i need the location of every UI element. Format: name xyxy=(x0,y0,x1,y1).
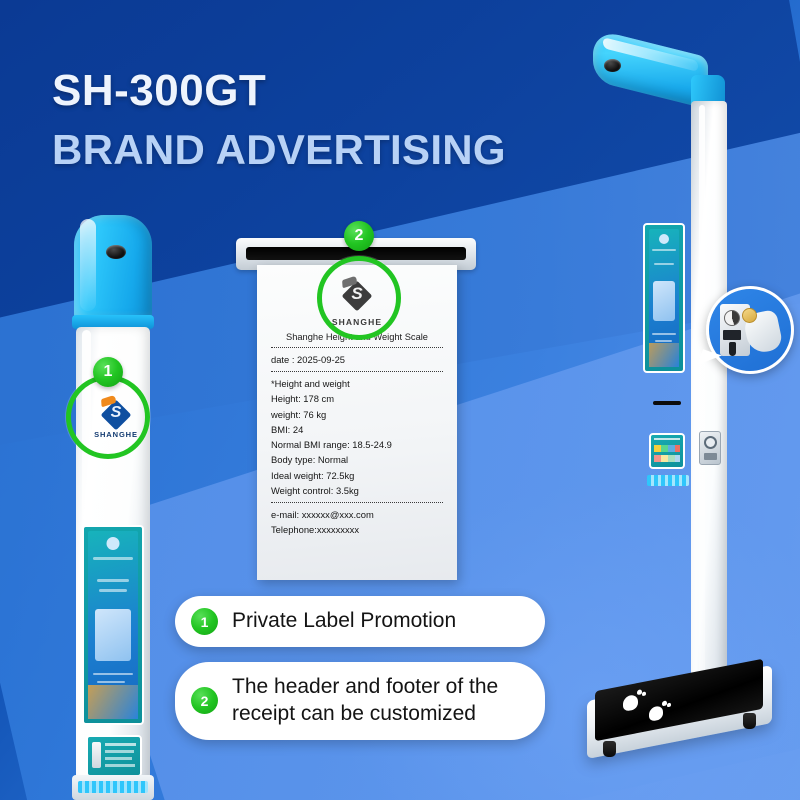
coin-dial-icon xyxy=(704,436,717,449)
device-left-front-view: S SHANGHE xyxy=(60,215,172,800)
callout-private-label[interactable]: 1 Private Label Promotion xyxy=(175,596,545,647)
receipt-line: Weight control: 3.5kg xyxy=(271,483,443,498)
info-panel-bar-icon xyxy=(92,742,101,768)
highlight-ring-1 xyxy=(66,375,150,459)
advertisement-poster: SH-300GT BRAND ADVERTISING S SHANGHE xyxy=(0,0,800,800)
coin-icon xyxy=(742,308,757,323)
ad-panel-avatar-icon xyxy=(107,537,120,550)
receipt-line: date : 2025-09-25 xyxy=(271,352,443,367)
coin-display-icon xyxy=(723,330,741,340)
bmi-chart-icon xyxy=(649,433,685,469)
marker-badge-1: 1 xyxy=(93,357,123,387)
card-slot-icon xyxy=(653,401,681,405)
coin-slot-icon xyxy=(704,453,717,460)
ad-panel-graphic xyxy=(653,281,675,321)
receipt-divider-footer xyxy=(271,502,443,503)
receipt-divider-top xyxy=(271,347,443,348)
advertising-display-icon xyxy=(643,223,685,373)
ad-panel-footer-line-2 xyxy=(655,340,672,342)
ad-panel-screen xyxy=(649,229,679,367)
info-line-3 xyxy=(105,757,132,760)
footprint-icon xyxy=(647,698,673,723)
receipt-blank-space xyxy=(271,538,443,564)
headline-subtitle: BRAND ADVERTISING xyxy=(52,125,506,175)
receipt-line: Normal BMI range: 18.5-24.9 xyxy=(271,437,443,452)
callout-text-1: Private Label Promotion xyxy=(232,608,456,635)
marker-badge-2: 2 xyxy=(344,221,374,251)
ultrasonic-sensor-icon xyxy=(106,245,126,259)
ad-panel-ribbon xyxy=(88,685,138,719)
right-device-accent-strip xyxy=(647,475,689,486)
right-device-column xyxy=(691,101,727,701)
receipt-line: weight: 76 kg xyxy=(271,407,443,422)
receipt-line: Ideal weight: 72.5kg xyxy=(271,468,443,483)
receipt-footer-line: Telephone:xxxxxxxxx xyxy=(271,522,443,537)
headline-block: SH-300GT BRAND ADVERTISING xyxy=(52,66,506,176)
callout-text-2: The header and footer of the receipt can… xyxy=(232,674,523,728)
bmi-scale-row-1 xyxy=(654,445,680,452)
left-device-base-strip xyxy=(78,781,148,793)
receipt-line: *Height and weight xyxy=(271,376,443,391)
ad-panel-headline-line xyxy=(654,263,673,265)
product-model-title: SH-300GT xyxy=(52,66,506,115)
left-head-highlight xyxy=(80,219,96,311)
info-line-2 xyxy=(105,750,134,753)
ad-panel-subline xyxy=(99,589,127,592)
callout-badge-2: 2 xyxy=(191,687,218,714)
ad-panel-footer-line-2 xyxy=(97,681,125,683)
coin-dial-icon xyxy=(724,310,740,326)
receipt-line: BMI: 24 xyxy=(271,422,443,437)
ad-panel-footer-line-1 xyxy=(93,673,133,675)
ad-panel-ribbon xyxy=(649,343,679,367)
platform-leg-front-left xyxy=(603,741,616,757)
bmi-scale-row-2 xyxy=(654,455,680,462)
ad-panel-screen xyxy=(88,531,138,719)
receipt-footer-line: e-mail: xxxxxx@xxx.com xyxy=(271,507,443,522)
callout-receipt-customization[interactable]: 2 The header and footer of the receipt c… xyxy=(175,662,545,740)
info-line-1 xyxy=(105,743,136,746)
receipt-line: Height: 178 cm xyxy=(271,391,443,406)
ultrasonic-sensor-icon xyxy=(604,59,621,72)
right-column-highlight xyxy=(699,105,705,697)
ad-panel-caption-line xyxy=(93,557,133,560)
left-info-panel xyxy=(86,735,142,777)
coin-lever-icon xyxy=(729,342,736,356)
callout-badge-1: 1 xyxy=(191,608,218,635)
info-line-4 xyxy=(105,764,135,767)
ad-panel-graphic xyxy=(95,609,131,661)
coin-acceptor-icon xyxy=(699,431,721,465)
footprint-icon xyxy=(621,687,647,712)
receipt-line: Body type: Normal xyxy=(271,452,443,467)
highlight-ring-2 xyxy=(317,256,401,340)
coin-insert-callout-icon xyxy=(706,286,794,374)
platform-leg-front-right xyxy=(743,713,756,729)
device-right-side-view xyxy=(575,35,800,765)
receipt-divider-date xyxy=(271,371,443,372)
ad-panel-caption-line xyxy=(652,249,676,251)
advertising-display-icon xyxy=(82,525,144,725)
ad-panel-footer-line-1 xyxy=(652,333,676,335)
ad-panel-avatar-icon xyxy=(659,234,669,244)
bmi-title-line xyxy=(654,438,680,440)
ad-panel-headline-line xyxy=(97,579,129,582)
